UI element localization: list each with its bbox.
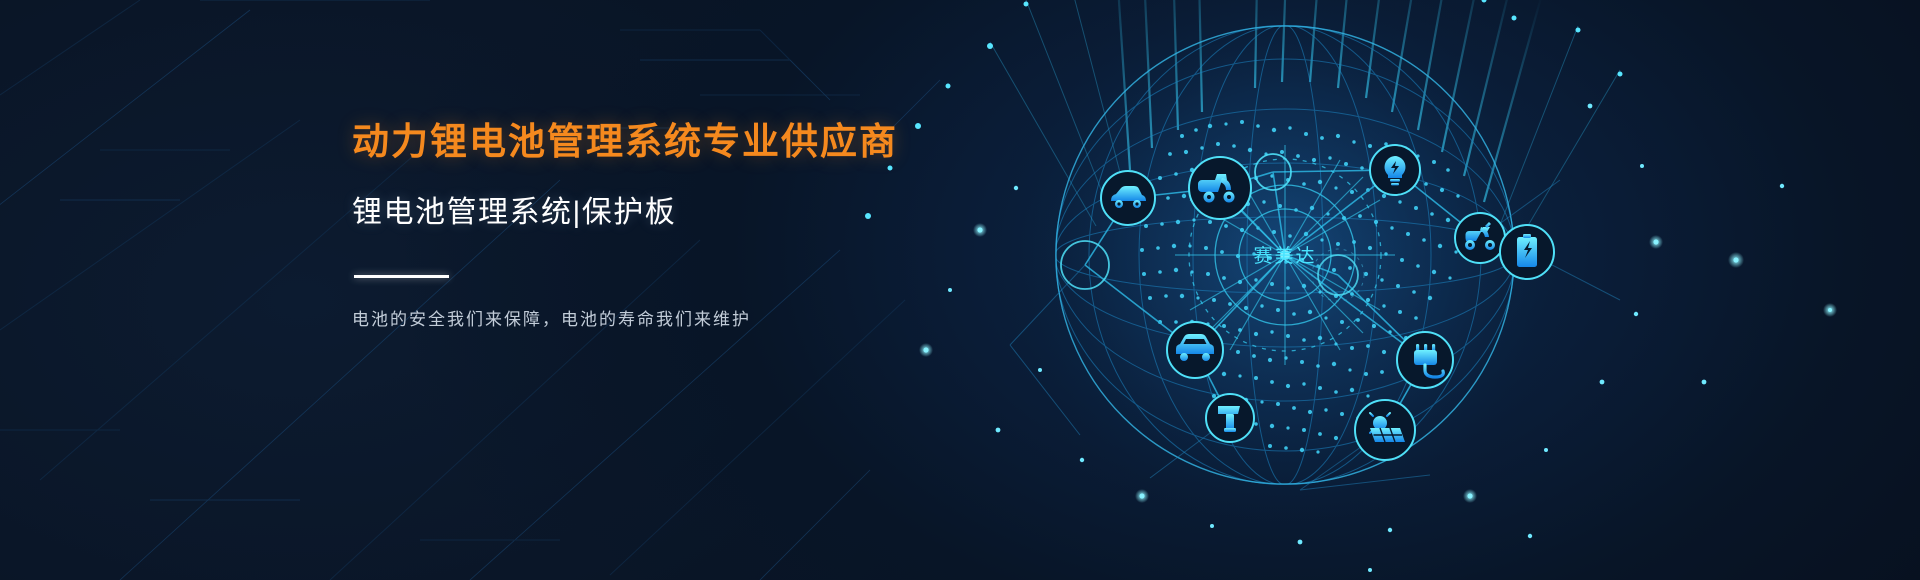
node-car-side	[1101, 171, 1155, 225]
node-battery	[1500, 225, 1554, 279]
banner-copy-block: 动力锂电池管理系统专业供应商 锂电池管理系统|保护板 电池的安全我们来保障，电池…	[352, 118, 912, 330]
banner-subheadline: 锂电池管理系统|保护板	[352, 187, 912, 231]
node-scooter	[1189, 157, 1251, 219]
node-motorcycle	[1455, 213, 1505, 263]
node-solar-panel	[1355, 400, 1415, 460]
node-car-front	[1167, 322, 1223, 378]
node-drill-tool	[1206, 394, 1254, 442]
divider-rule	[354, 275, 449, 278]
hero-banner: 动力锂电池管理系统专业供应商 锂电池管理系统|保护板 电池的安全我们来保障，电池…	[0, 0, 1920, 580]
node-power-plug	[1397, 332, 1453, 388]
banner-headline: 动力锂电池管理系统专业供应商	[352, 118, 912, 165]
network-globe-graphic: 赛美达	[830, 0, 1920, 580]
banner-tagline: 电池的安全我们来保障，电池的寿命我们来维护	[352, 305, 912, 330]
brand-node-label: 赛美达	[1253, 245, 1316, 267]
node-lightbulb	[1370, 145, 1420, 195]
